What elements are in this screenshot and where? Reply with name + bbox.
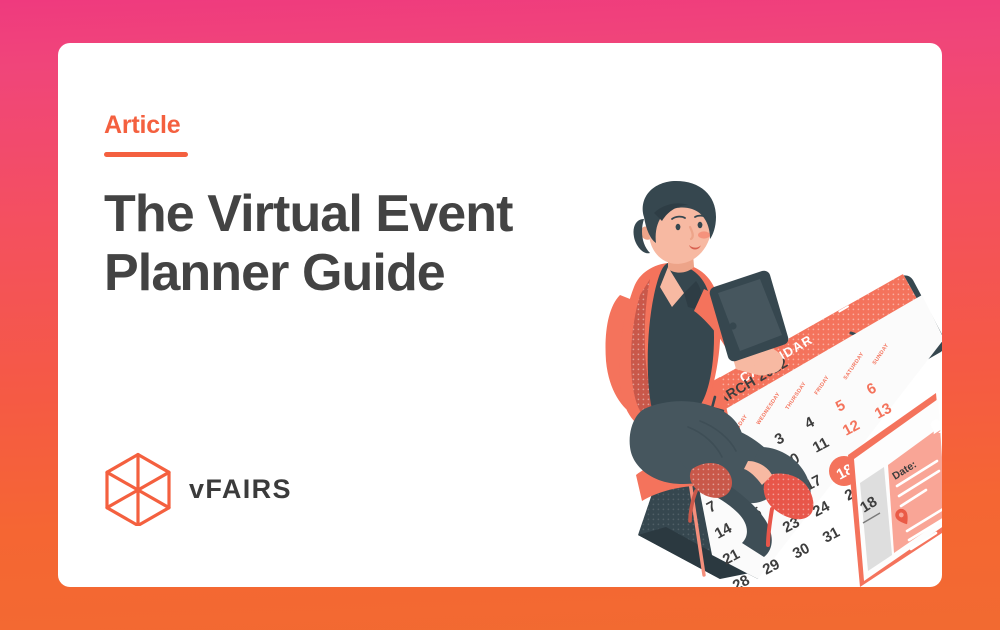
eyebrow-label: Article — [104, 113, 604, 138]
vfairs-logo[interactable]: vFAIRS — [104, 452, 292, 526]
vfairs-wordmark: vFAIRS — [189, 474, 292, 505]
plus-icon[interactable] — [877, 246, 902, 271]
hexagon-asterisk-icon — [104, 452, 172, 526]
hero-text-block: Article The Virtual Event Planner Guide — [104, 113, 604, 303]
page-title: The Virtual Event Planner Guide — [104, 185, 604, 303]
illustration-woman-with-calendar: CALENDAR MARCH 2022 MONDAY TUESDAY — [592, 183, 942, 587]
eyebrow-underline-rule — [104, 152, 188, 157]
page-title-line-1: The Virtual Event — [104, 185, 513, 243]
calendar-day: 30 — [790, 540, 813, 563]
content-card: Article The Virtual Event Planner Guide … — [58, 43, 942, 587]
calendar-day: 31 — [820, 524, 843, 547]
search-icon[interactable] — [852, 265, 877, 290]
page-title-line-2: Planner Guide — [104, 244, 445, 302]
